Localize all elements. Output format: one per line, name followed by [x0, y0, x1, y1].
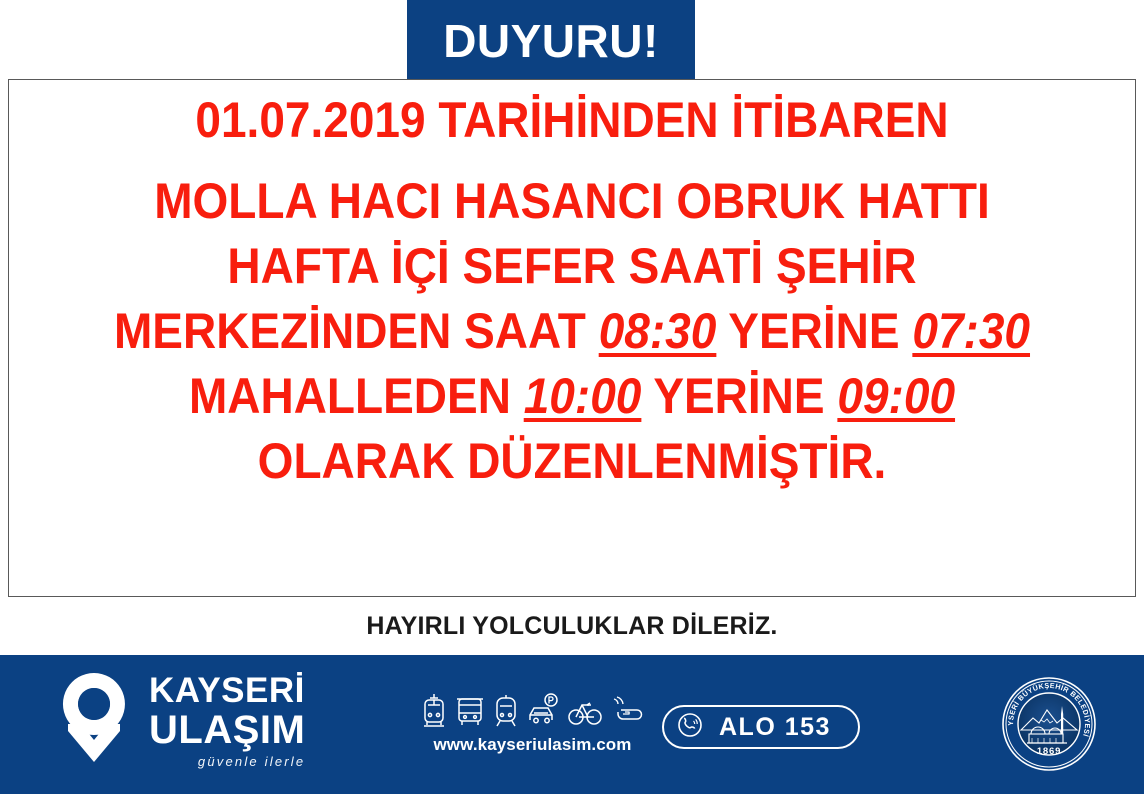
old-departure-time-city-center: 08:30 [599, 303, 717, 359]
announcement-content-box: 01.07.2019 TARİHİNDEN İTİBAREN MOLLA HAC… [8, 79, 1136, 597]
kayseri-ulasim-logo: KAYSERİ ULAŞIM güvenle ilerle [55, 669, 305, 769]
line-4-prefix: MERKEZİNDEN SAAT [114, 303, 599, 359]
footer-bar: KAYSERİ ULAŞIM güvenle ilerle [0, 655, 1144, 794]
announcement-line-6: OLARAK DÜZENLENMİŞTİR. [54, 435, 1090, 488]
transport-icon-row [420, 691, 645, 729]
announcement-line-1-text: 01.07.2019 TARİHİNDEN İTİBAREN [195, 92, 948, 148]
announcement-line-5: MAHALLEDEN 10:00 YERİNE 09:00 [54, 370, 1090, 423]
pin-logo-icon [55, 669, 133, 769]
tram-icon [420, 693, 448, 729]
banner-title: DUYURU! [443, 18, 659, 64]
announcement-line-6-text: OLARAK DÜZENLENMİŞTİR. [258, 433, 887, 489]
farewell-caption: HAYIRLI YOLCULUKLAR DİLERİZ. [0, 612, 1144, 641]
announcement-line-3-text: HAFTA İÇİ SEFER SAATİ ŞEHİR [227, 238, 916, 294]
announcement-line-4: MERKEZİNDEN SAAT 08:30 YERİNE 07:30 [54, 305, 1090, 358]
old-departure-time-neighborhood: 10:00 [524, 368, 642, 424]
announcement-line-2: MOLLA HACI HASANCI OBRUK HATTI [54, 175, 1090, 228]
bicycle-icon [568, 693, 602, 729]
announcement-banner: DUYURU! [407, 0, 695, 79]
hotline-label: ALO 153 [719, 713, 831, 742]
line-5-prefix: MAHALLEDEN [189, 368, 524, 424]
announcement-line-1: 01.07.2019 TARİHİNDEN İTİBAREN [54, 94, 1090, 147]
new-departure-time-city-center: 07:30 [912, 303, 1030, 359]
train-icon [492, 693, 520, 729]
phone-call-icon [677, 712, 703, 743]
logo-line-kayseri: KAYSERİ [149, 673, 305, 708]
announcement-line-3: HAFTA İÇİ SEFER SAATİ ŞEHİR [54, 240, 1090, 293]
logo-wordmark: KAYSERİ ULAŞIM güvenle ilerle [149, 673, 305, 770]
parking-car-icon [527, 693, 561, 729]
header-banner-row: DUYURU! [0, 0, 1144, 79]
website-url[interactable]: www.kayseriulasim.com [420, 735, 645, 755]
line-4-middle: YERİNE [716, 303, 912, 359]
announcement-line-2-text: MOLLA HACI HASANCI OBRUK HATTI [154, 173, 990, 229]
municipality-seal: KAYSERİ BÜYÜKŞEHİR BELEDİYESİ 1869 [1001, 676, 1097, 772]
logo-line-ulasim: ULAŞIM [149, 710, 305, 751]
bus-icon [455, 693, 485, 729]
svg-text:1869: 1869 [1037, 746, 1061, 757]
logo-tagline: güvenle ilerle [149, 754, 305, 769]
hotline-pill[interactable]: ALO 153 [662, 705, 860, 749]
contactless-card-icon [609, 693, 645, 729]
transport-modes-cluster: www.kayseriulasim.com [420, 691, 645, 755]
line-5-middle: YERİNE [641, 368, 837, 424]
new-departure-time-neighborhood: 09:00 [837, 368, 955, 424]
